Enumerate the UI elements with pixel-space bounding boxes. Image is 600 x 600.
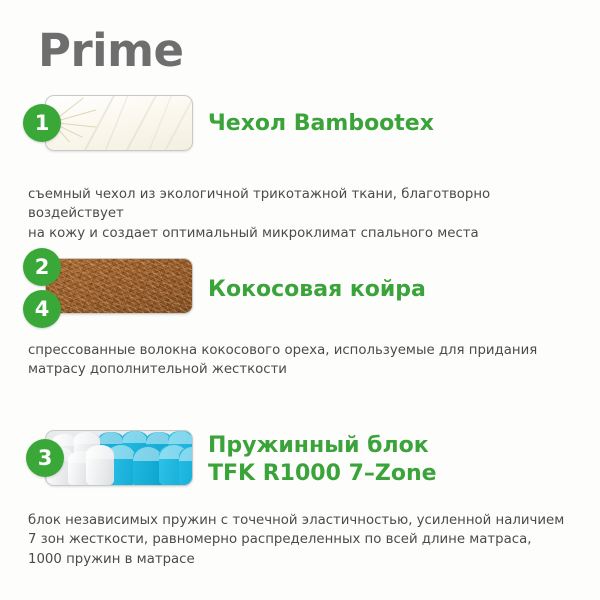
coir-fibre-texture — [46, 259, 192, 313]
layer-description-springs: блок независимых пружин с точечной эласт… — [28, 511, 588, 569]
layer-badge-2: 2 — [23, 248, 61, 286]
layer-badge-4: 4 — [23, 290, 61, 328]
layer-badge-3: 3 — [26, 439, 64, 477]
coconut-coir-swatch — [45, 258, 193, 314]
spring-cyan — [179, 447, 193, 486]
layer-heading-coir: Кокосовая койра — [208, 276, 426, 304]
layer-badge-1: 1 — [23, 104, 61, 142]
layer-description-coir: спрессованные волокна кокосового ореха, … — [28, 341, 588, 380]
page-title: Prime — [38, 28, 184, 73]
bambootex-cover-swatch — [45, 95, 193, 151]
spring-block-swatch — [45, 430, 193, 486]
layer-heading-springs: Пружинный блок TFK R1000 7–Zone — [208, 432, 437, 487]
layer-heading-cover: Чехол Bambootex — [208, 110, 434, 138]
mattress-layers-infographic: Prime 1 Чехол Bambootex съемный чехол из… — [0, 0, 600, 600]
spring-white — [86, 445, 114, 486]
layer-description-cover: съемный чехол из экологичной трикотажной… — [28, 185, 588, 243]
